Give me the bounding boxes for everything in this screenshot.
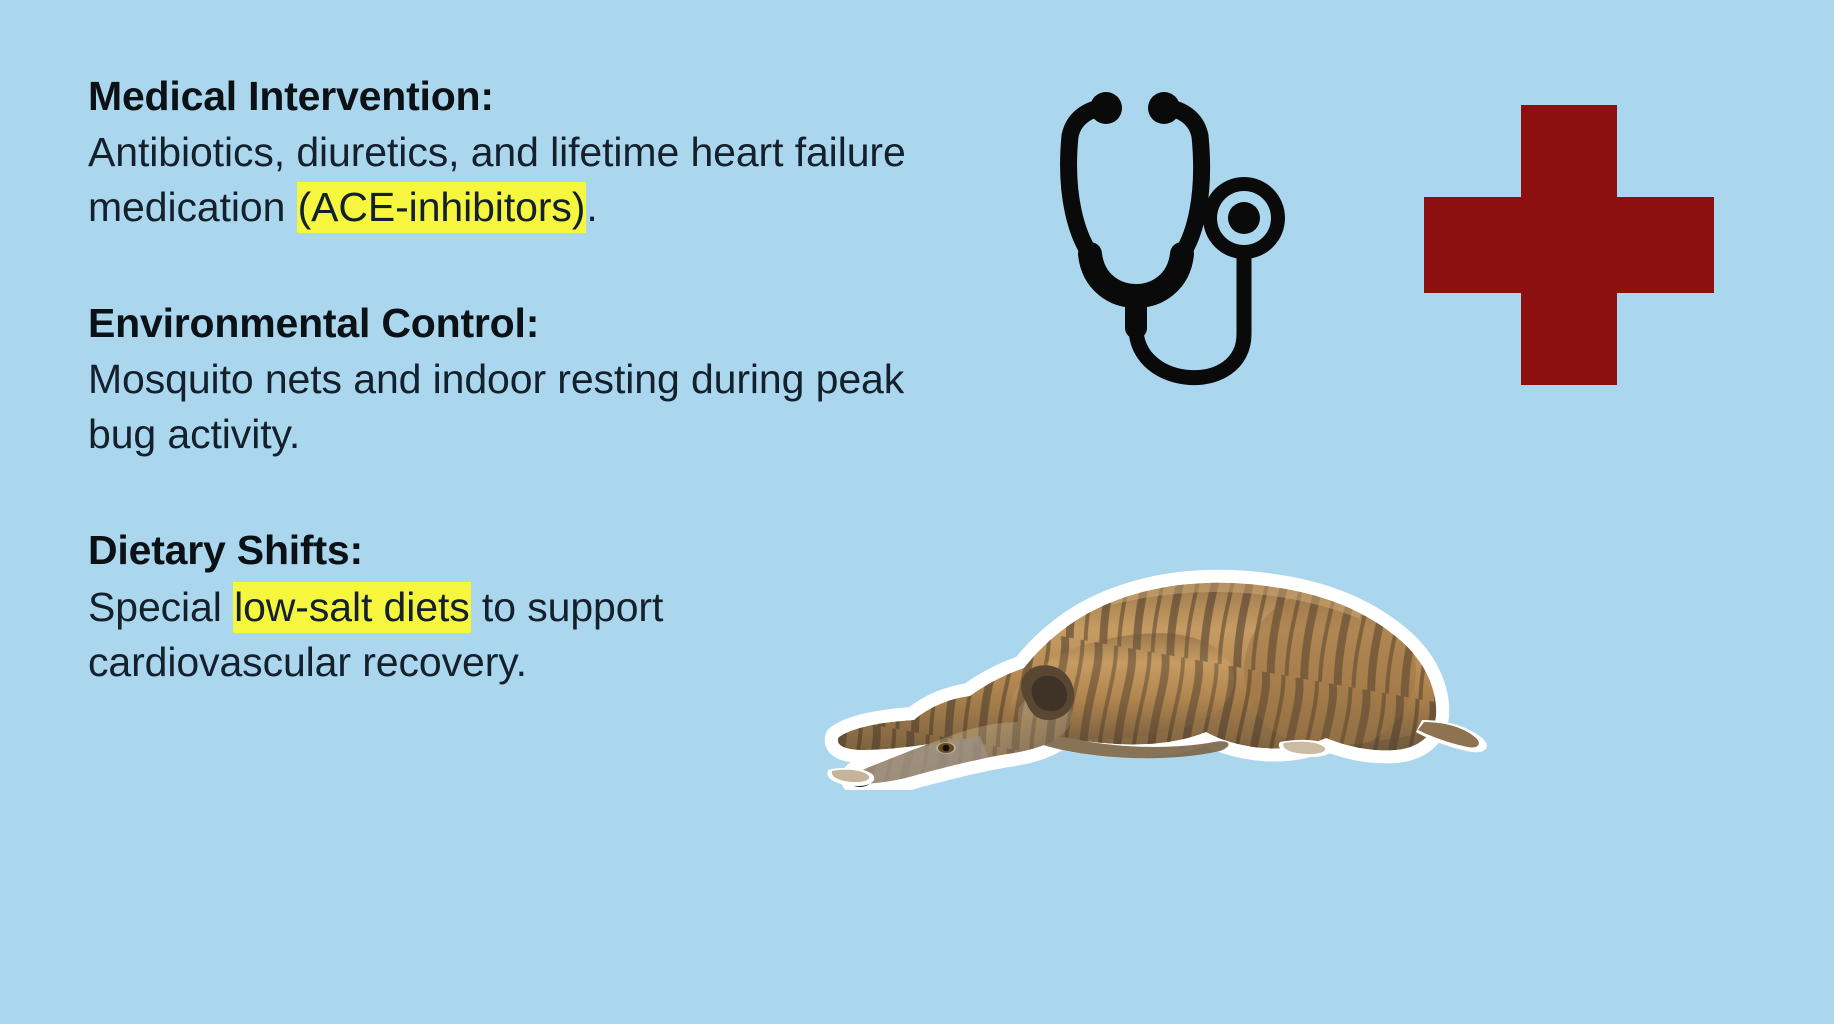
block-heading: Medical Intervention: (88, 70, 918, 123)
block-heading: Dietary Shifts: (88, 524, 918, 577)
highlighted-term: (ACE-inhibitors) (297, 182, 587, 233)
text-column: Medical Intervention: Antibiotics, diure… (88, 70, 918, 690)
greyhound-dog-photo (810, 470, 1540, 790)
slide-canvas: Medical Intervention: Antibiotics, diure… (0, 0, 1834, 1024)
block-dietary-shifts: Dietary Shifts: Special low-salt diets t… (88, 524, 918, 689)
highlighted-term: low-salt diets (233, 582, 471, 633)
block-body: Mosquito nets and indoor resting during … (88, 352, 918, 462)
block-body: Antibiotics, diuretics, and lifetime hea… (88, 125, 918, 235)
block-medical-intervention: Medical Intervention: Antibiotics, diure… (88, 70, 918, 235)
cross-vertical-bar (1521, 105, 1617, 385)
body-text-pre: Special (88, 584, 233, 630)
block-environmental-control: Environmental Control: Mosquito nets and… (88, 297, 918, 462)
body-text-pre: Mosquito nets and indoor resting during … (88, 356, 904, 457)
medical-cross-icon (1424, 105, 1714, 385)
stethoscope-icon (1048, 78, 1378, 408)
block-heading: Environmental Control: (88, 297, 918, 350)
block-body: Special low-salt diets to support cardio… (88, 580, 918, 690)
body-text-post: . (586, 184, 597, 230)
